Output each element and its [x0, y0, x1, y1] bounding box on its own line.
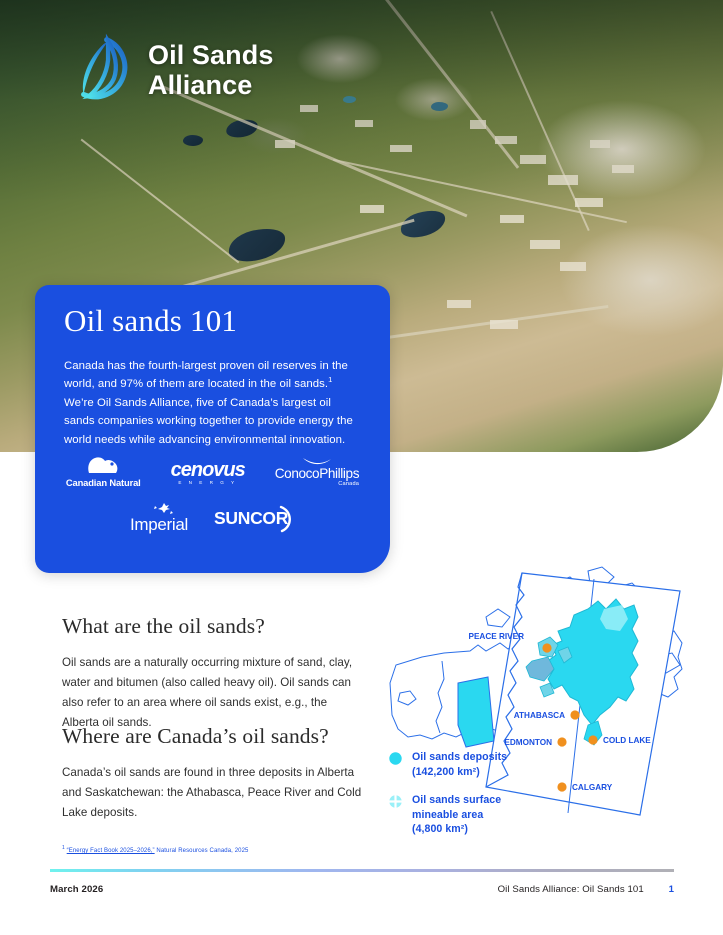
document-page: Oil Sands Alliance Oil sands 101 Canada …	[0, 0, 723, 935]
legend-mineable-line3: (4,800 km²)	[412, 822, 501, 837]
logo-imperial: Imperial	[130, 502, 188, 535]
logo-suncor-label: SUNCOR	[214, 508, 288, 529]
city-marker-athabasca	[570, 710, 579, 719]
logo-conocophillips-label: ConocoPhillips	[275, 466, 359, 481]
logo-conocophillips: ConocoPhillips Canada	[275, 457, 359, 487]
legend-deposits-line2: (142,200 km²)	[412, 765, 507, 780]
legend-item-mineable: Oil sands surface mineable area (4,800 k…	[388, 793, 568, 837]
city-label-calgary: CALGARY	[572, 783, 613, 792]
section-heading: Where are Canada’s oil sands?	[62, 724, 362, 749]
legend-deposits-line1: Oil sands deposits	[412, 751, 507, 763]
city-marker-edmonton	[557, 737, 566, 746]
city-marker-peace-river	[542, 643, 551, 652]
logo-canadian-natural-label: Canadian Natural	[66, 477, 141, 488]
city-label-peace-river: PEACE RIVER	[468, 632, 524, 641]
logo-canadian-natural: Canadian Natural	[66, 455, 141, 488]
filled-circle-icon	[388, 751, 403, 766]
logo-conocophillips-sub: Canada	[338, 481, 359, 487]
brand-logo: Oil Sands Alliance	[62, 33, 273, 107]
city-label-athabasca: ATHABASCA	[514, 711, 565, 720]
brand-name: Oil Sands Alliance	[148, 40, 273, 100]
leaf-circle-logo-mark	[62, 33, 134, 107]
footnote-marker: 1	[62, 845, 65, 851]
page-number: 1	[669, 884, 674, 895]
suncor-arc-icon	[279, 504, 295, 534]
footer-title-group: Oil Sands Alliance: Oil Sands 101 1	[498, 884, 674, 895]
hatched-circle-icon	[388, 794, 403, 809]
footnote-rest: Natural Resources Canada, 2025	[155, 848, 249, 854]
imperial-stars-icon	[142, 502, 176, 515]
conoco-swoosh-icon	[302, 457, 332, 466]
logo-cenovus: cenovus E N E R G Y	[171, 459, 245, 485]
section-paragraph: Canada’s oil sands are found in three de…	[62, 763, 362, 823]
footnote-ref: 1	[328, 376, 332, 385]
logo-suncor: SUNCOR	[214, 504, 295, 534]
footer-title: Oil Sands Alliance: Oil Sands 101	[498, 884, 644, 895]
card-body: Canada has the fourth-largest proven oil…	[64, 357, 362, 449]
section-where-are-oil-sands: Where are Canada’s oil sands? Canada’s o…	[62, 724, 362, 823]
brand-name-line1: Oil Sands	[148, 40, 273, 70]
city-label-edmonton: EDMONTON	[504, 738, 552, 747]
page-footer: March 2026 Oil Sands Alliance: Oil Sands…	[50, 884, 674, 895]
logo-imperial-label: Imperial	[130, 515, 188, 535]
card-body-part2: We’re Oil Sands Alliance, five of Canada…	[64, 397, 353, 446]
city-marker-cold-lake	[588, 735, 597, 744]
intro-card: Oil sands 101 Canada has the fourth-larg…	[35, 285, 390, 573]
footnote-link[interactable]: “Energy Fact Book 2025–2026,”	[67, 848, 155, 854]
section-what-are-oil-sands: What are the oil sands? Oil sands are a …	[62, 614, 362, 733]
legend-mineable-line2: mineable area	[412, 808, 501, 823]
section-heading: What are the oil sands?	[62, 614, 362, 639]
legend-mineable-line1: Oil sands surface	[412, 794, 501, 806]
legend-deposits-text: Oil sands deposits (142,200 km²)	[412, 750, 507, 779]
legend-mineable-text: Oil sands surface mineable area (4,800 k…	[412, 793, 501, 837]
card-body-part1: Canada has the fourth-largest proven oil…	[64, 360, 348, 390]
logo-cenovus-label: cenovus	[171, 459, 245, 482]
card-title: Oil sands 101	[64, 305, 237, 336]
footer-divider	[50, 869, 674, 872]
section-paragraph: Oil sands are a naturally occurring mixt…	[62, 653, 362, 733]
logo-cenovus-sub: E N E R G Y	[178, 480, 237, 485]
footer-date: March 2026	[50, 884, 103, 895]
brand-name-line2: Alliance	[148, 70, 273, 100]
legend-item-deposits: Oil sands deposits (142,200 km²)	[388, 750, 568, 779]
member-company-logos: Canadian Natural cenovus E N E R G Y Con…	[35, 455, 390, 535]
bear-icon	[85, 455, 121, 477]
city-label-cold-lake: COLD LAKE	[603, 736, 651, 745]
map-legend-items: Oil sands deposits (142,200 km²) Oil san…	[388, 750, 568, 851]
footnote: 1 “Energy Fact Book 2025–2026,” Natural …	[62, 845, 248, 854]
